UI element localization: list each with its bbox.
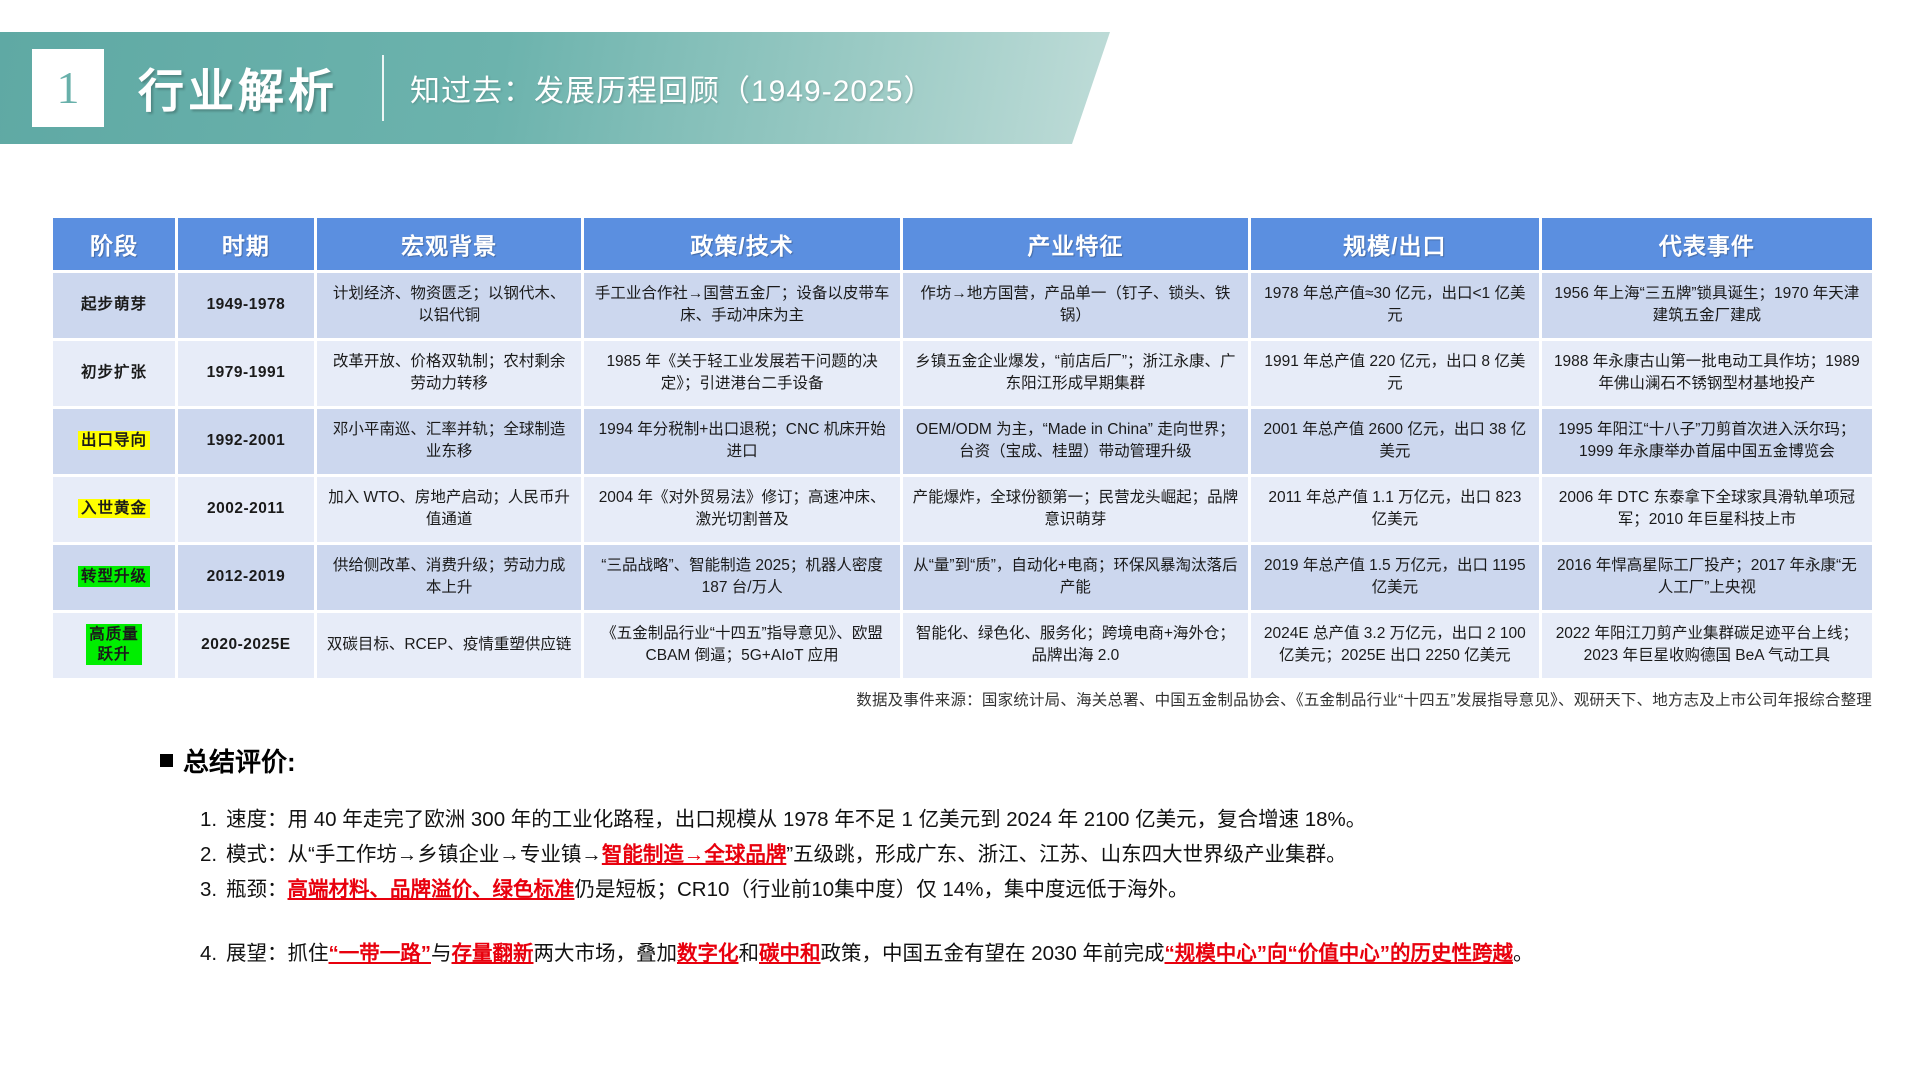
source-note: 数据及事件来源：国家统计局、海关总署、中国五金制品协会、《五金制品行业“十四五”… (856, 688, 1872, 710)
summary-text: 政策，中国五金有望在 2030 年前完成 (821, 942, 1165, 965)
cell-policy: “三品战略”、智能制造 2025；机器人密度 187 台/万人 (584, 545, 899, 610)
table-row: 出口导向1992-2001邓小平南巡、汇率并轨；全球制造业东移1994 年分税制… (53, 409, 1872, 474)
cell-feature: 乡镇五金企业爆发，“前店后厂”；浙江永康、广东阳江形成早期集群 (903, 341, 1248, 406)
square-bullet-icon (160, 754, 173, 767)
summary-text: 与 (431, 942, 452, 965)
summary-heading-label: 总结评价: (183, 742, 296, 779)
summary-emphasis: 数字化 (677, 942, 739, 965)
cell-stage: 初步扩张 (53, 341, 175, 406)
summary-emphasis: 碳中和 (759, 942, 821, 965)
cell-feature: 从“量”到“质”，自动化+电商；环保风暴淘汰落后产能 (903, 545, 1248, 610)
cell-macro: 加入 WTO、房地产启动；人民币升值通道 (317, 477, 582, 542)
summary-text: 模式：从“手工作坊→乡镇企业→专业镇→ (226, 843, 602, 866)
cell-event: 2006 年 DTC 东泰拿下全球家具滑轨单项冠军；2010 年巨星科技上市 (1542, 477, 1872, 542)
cell-policy: 1994 年分税制+出口退税；CNC 机床开始进口 (584, 409, 899, 474)
column-header-period: 时期 (178, 218, 314, 270)
summary-text: ”五级跳，形成广东、浙江、江苏、山东四大世界级产业集群。 (786, 843, 1346, 866)
history-table-container: 阶段 时期 宏观背景 政策/技术 产业特征 规模/出口 代表事件 起步萌芽194… (50, 215, 1875, 681)
cell-policy: 手工业合作社→国营五金厂；设备以皮带车床、手动冲床为主 (584, 273, 899, 338)
table-row: 转型升级2012-2019供给侧改革、消费升级；劳动力成本上升“三品战略”、智能… (53, 545, 1872, 610)
summary-item-number: 1. (200, 803, 226, 836)
page-subtitle: 知过去：发展历程回顾（1949-2025） (410, 66, 934, 110)
summary-emphasis: 智能制造→全球品牌 (602, 843, 787, 866)
page-title: 行业解析 (138, 55, 338, 121)
cell-period: 2002-2011 (178, 477, 314, 542)
stage-label: 高质量跃升 (86, 624, 142, 665)
column-header-stage: 阶段 (53, 218, 175, 270)
summary-text: 瓶颈： (226, 878, 288, 901)
history-table: 阶段 时期 宏观背景 政策/技术 产业特征 规模/出口 代表事件 起步萌芽194… (50, 215, 1875, 681)
cell-event: 1956 年上海“三五牌”锁具诞生；1970 年天津建筑五金厂建成 (1542, 273, 1872, 338)
summary-item-number: 3. (200, 873, 226, 906)
cell-event: 1995 年阳江“十八子”刀剪首次进入沃尔玛；1999 年永康举办首届中国五金博… (1542, 409, 1872, 474)
summary-item-number: 4. (200, 937, 226, 970)
cell-period: 1992-2001 (178, 409, 314, 474)
summary-text: 和 (739, 942, 760, 965)
summary-heading: 总结评价: (160, 742, 1860, 779)
summary-item: 1.速度：用 40 年走完了欧洲 300 年的工业化路程，出口规模从 1978 … (200, 803, 1860, 836)
summary-item: 4.展望：抓住“一带一路”与存量翻新两大市场，叠加数字化和碳中和政策，中国五金有… (200, 937, 1860, 970)
column-header-macro: 宏观背景 (317, 218, 582, 270)
cell-policy: 2004 年《对外贸易法》修订；高速冲床、激光切割普及 (584, 477, 899, 542)
summary-emphasis: 存量翻新 (452, 942, 534, 965)
summary-emphasis: “规模中心”向“价值中心”的历史性跨越 (1165, 942, 1514, 965)
cell-event: 2016 年悍高星际工厂投产；2017 年永康“无人工厂”上央视 (1542, 545, 1872, 610)
cell-stage: 出口导向 (53, 409, 175, 474)
cell-scale: 2019 年总产值 1.5 万亿元，出口 1195 亿美元 (1251, 545, 1539, 610)
table-row: 高质量跃升2020-2025E双碳目标、RCEP、疫情重塑供应链《五金制品行业“… (53, 613, 1872, 678)
cell-policy: 1985 年《关于轻工业发展若干问题的决定》；引进港台二手设备 (584, 341, 899, 406)
table-header: 阶段 时期 宏观背景 政策/技术 产业特征 规模/出口 代表事件 (53, 218, 1872, 270)
banner-divider (382, 55, 384, 121)
table-row: 入世黄金2002-2011加入 WTO、房地产启动；人民币升值通道2004 年《… (53, 477, 1872, 542)
table-body: 起步萌芽1949-1978计划经济、物资匮乏；以钢代木、以铝代铜手工业合作社→国… (53, 273, 1872, 678)
cell-period: 2020-2025E (178, 613, 314, 678)
cell-event: 2022 年阳江刀剪产业集群碳足迹平台上线；2023 年巨星收购德国 BeA 气… (1542, 613, 1872, 678)
section-number-box: 1 (32, 49, 104, 127)
summary-emphasis: 高端材料、品牌溢价、绿色标准 (288, 878, 575, 901)
table-row: 起步萌芽1949-1978计划经济、物资匮乏；以钢代木、以铝代铜手工业合作社→国… (53, 273, 1872, 338)
summary-text: 。 (1513, 942, 1534, 965)
column-header-event: 代表事件 (1542, 218, 1872, 270)
summary-text: 速度：用 40 年走完了欧洲 300 年的工业化路程，出口规模从 1978 年不… (226, 808, 1366, 831)
column-header-policy: 政策/技术 (584, 218, 899, 270)
stage-label: 入世黄金 (78, 499, 150, 518)
cell-macro: 双碳目标、RCEP、疫情重塑供应链 (317, 613, 582, 678)
cell-period: 1979-1991 (178, 341, 314, 406)
summary-list: 1.速度：用 40 年走完了欧洲 300 年的工业化路程，出口规模从 1978 … (160, 803, 1860, 970)
cell-scale: 1991 年总产值 220 亿元，出口 8 亿美元 (1251, 341, 1539, 406)
section-number: 1 (57, 65, 80, 111)
stage-label: 出口导向 (78, 431, 150, 450)
cell-stage: 转型升级 (53, 545, 175, 610)
cell-stage: 入世黄金 (53, 477, 175, 542)
summary-item: 3.瓶颈：高端材料、品牌溢价、绿色标准仍是短板；CR10（行业前10集中度）仅 … (200, 873, 1860, 906)
cell-macro: 改革开放、价格双轨制；农村剩余劳动力转移 (317, 341, 582, 406)
summary-text: 仍是短板；CR10（行业前10集中度）仅 14%，集中度远低于海外。 (575, 878, 1189, 901)
table-header-row: 阶段 时期 宏观背景 政策/技术 产业特征 规模/出口 代表事件 (53, 218, 1872, 270)
cell-policy: 《五金制品行业“十四五”指导意见》、欧盟 CBAM 倒逼；5G+AIoT 应用 (584, 613, 899, 678)
cell-feature: 智能化、绿色化、服务化；跨境电商+海外仓；品牌出海 2.0 (903, 613, 1248, 678)
stage-label: 起步萌芽 (81, 296, 147, 313)
cell-feature: 产能爆炸，全球份额第一；民营龙头崛起；品牌意识萌芽 (903, 477, 1248, 542)
stage-label: 转型升级 (78, 566, 150, 587)
cell-macro: 邓小平南巡、汇率并轨；全球制造业东移 (317, 409, 582, 474)
cell-event: 1988 年永康古山第一批电动工具作坊；1989 年佛山澜石不锈钢型材基地投产 (1542, 341, 1872, 406)
cell-macro: 供给侧改革、消费升级；劳动力成本上升 (317, 545, 582, 610)
summary-emphasis: “一带一路” (329, 942, 432, 965)
summary-section: 总结评价: 1.速度：用 40 年走完了欧洲 300 年的工业化路程，出口规模从… (160, 742, 1860, 972)
slide-header-banner: 1 行业解析 知过去：发展历程回顾（1949-2025） (0, 32, 1110, 144)
stage-label: 初步扩张 (81, 364, 147, 381)
cell-period: 1949-1978 (178, 273, 314, 338)
cell-scale: 2001 年总产值 2600 亿元，出口 38 亿美元 (1251, 409, 1539, 474)
cell-scale: 1978 年总产值≈30 亿元，出口<1 亿美元 (1251, 273, 1539, 338)
summary-item: 2.模式：从“手工作坊→乡镇企业→专业镇→智能制造→全球品牌”五级跳，形成广东、… (200, 838, 1860, 871)
summary-text: 展望：抓住 (226, 942, 329, 965)
slide-root: 1 行业解析 知过去：发展历程回顾（1949-2025） 阶段 时期 宏观背景 … (0, 0, 1920, 1080)
cell-stage: 高质量跃升 (53, 613, 175, 678)
summary-item-number: 2. (200, 838, 226, 871)
cell-period: 2012-2019 (178, 545, 314, 610)
table-row: 初步扩张1979-1991改革开放、价格双轨制；农村剩余劳动力转移1985 年《… (53, 341, 1872, 406)
cell-scale: 2024E 总产值 3.2 万亿元，出口 2 100 亿美元；2025E 出口 … (1251, 613, 1539, 678)
cell-macro: 计划经济、物资匮乏；以钢代木、以铝代铜 (317, 273, 582, 338)
column-header-scale: 规模/出口 (1251, 218, 1539, 270)
column-header-feature: 产业特征 (903, 218, 1248, 270)
cell-stage: 起步萌芽 (53, 273, 175, 338)
summary-text: 两大市场，叠加 (534, 942, 678, 965)
cell-feature: OEM/ODM 为主，“Made in China” 走向世界；台资（宝成、桂盟… (903, 409, 1248, 474)
cell-scale: 2011 年总产值 1.1 万亿元，出口 823 亿美元 (1251, 477, 1539, 542)
cell-feature: 作坊→地方国营，产品单一（钉子、锁头、铁锅） (903, 273, 1248, 338)
